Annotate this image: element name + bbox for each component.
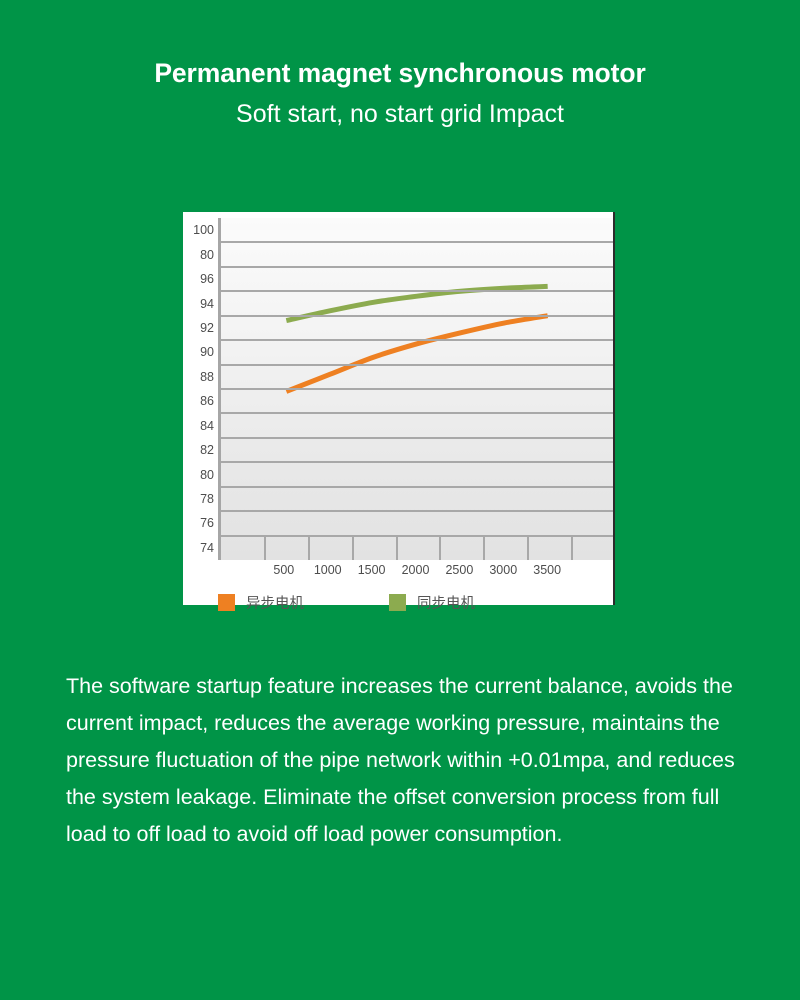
chart-gridline: [221, 266, 613, 268]
chart-gridline: [221, 315, 613, 317]
chart-gridline: [221, 241, 613, 243]
chart-gridline: [221, 437, 613, 439]
chart-gridline: [221, 364, 613, 366]
chart-y-axis: 10080969492908886848280787674: [183, 218, 216, 560]
chart-gridline: [221, 290, 613, 292]
chart-x-axis: 500100015002000250030003500: [218, 564, 613, 586]
x-axis-tick-label: 500: [273, 564, 294, 577]
chart-axis-separator: [396, 536, 398, 560]
chart-gridline: [221, 412, 613, 414]
y-axis-tick-label: 78: [200, 493, 214, 506]
x-axis-tick-label: 2000: [402, 564, 430, 577]
chart-gridline: [221, 535, 613, 537]
chart-panel: 10080969492908886848280787674 5001000150…: [183, 212, 615, 605]
y-axis-tick-label: 88: [200, 371, 214, 384]
chart-series-line: [286, 316, 547, 392]
y-axis-tick-label: 84: [200, 419, 214, 432]
chart-gridline: [221, 461, 613, 463]
y-axis-tick-label: 94: [200, 297, 214, 310]
y-axis-tick-label: 74: [200, 542, 214, 555]
y-axis-tick-label: 100: [193, 224, 214, 237]
header: Permanent magnet synchronous motor Soft …: [0, 0, 800, 129]
chart-axis-separator: [483, 536, 485, 560]
x-axis-tick-label: 1000: [314, 564, 342, 577]
legend-item[interactable]: 异步电机: [218, 592, 304, 613]
description-block: The software startup feature increases t…: [66, 668, 756, 853]
chart-gridline: [221, 339, 613, 341]
legend-label: 同步电机: [417, 592, 475, 613]
y-axis-tick-label: 90: [200, 346, 214, 359]
page-title: Permanent magnet synchronous motor: [0, 58, 800, 89]
chart-axis-separator: [439, 536, 441, 560]
description-paragraph: The software startup feature increases t…: [66, 668, 756, 853]
chart-axis-separator: [527, 536, 529, 560]
chart-legend: 异步电机同步电机: [218, 590, 475, 614]
y-axis-tick-label: 80: [200, 248, 214, 261]
x-axis-tick-label: 1500: [358, 564, 386, 577]
chart-axis-separator: [352, 536, 354, 560]
page-subtitle: Soft start, no start grid Impact: [0, 99, 800, 129]
chart-axis-separator: [308, 536, 310, 560]
chart-axis-separator: [264, 536, 266, 560]
x-axis-tick-label: 3000: [489, 564, 517, 577]
chart-axis-separator: [571, 536, 573, 560]
chart-gridline: [221, 486, 613, 488]
chart-inner: 10080969492908886848280787674 5001000150…: [183, 212, 613, 605]
chart-plot-area: [218, 218, 613, 560]
legend-swatch-icon: [218, 594, 235, 611]
y-axis-tick-label: 96: [200, 273, 214, 286]
y-axis-tick-label: 76: [200, 517, 214, 530]
y-axis-tick-label: 80: [200, 468, 214, 481]
legend-item[interactable]: 同步电机: [389, 592, 475, 613]
y-axis-tick-label: 82: [200, 444, 214, 457]
chart-gridline: [221, 510, 613, 512]
y-axis-tick-label: 92: [200, 322, 214, 335]
legend-label: 异步电机: [246, 592, 304, 613]
x-axis-tick-label: 2500: [445, 564, 473, 577]
y-axis-tick-label: 86: [200, 395, 214, 408]
x-axis-tick-label: 3500: [533, 564, 561, 577]
chart-gridline: [221, 388, 613, 390]
legend-swatch-icon: [389, 594, 406, 611]
